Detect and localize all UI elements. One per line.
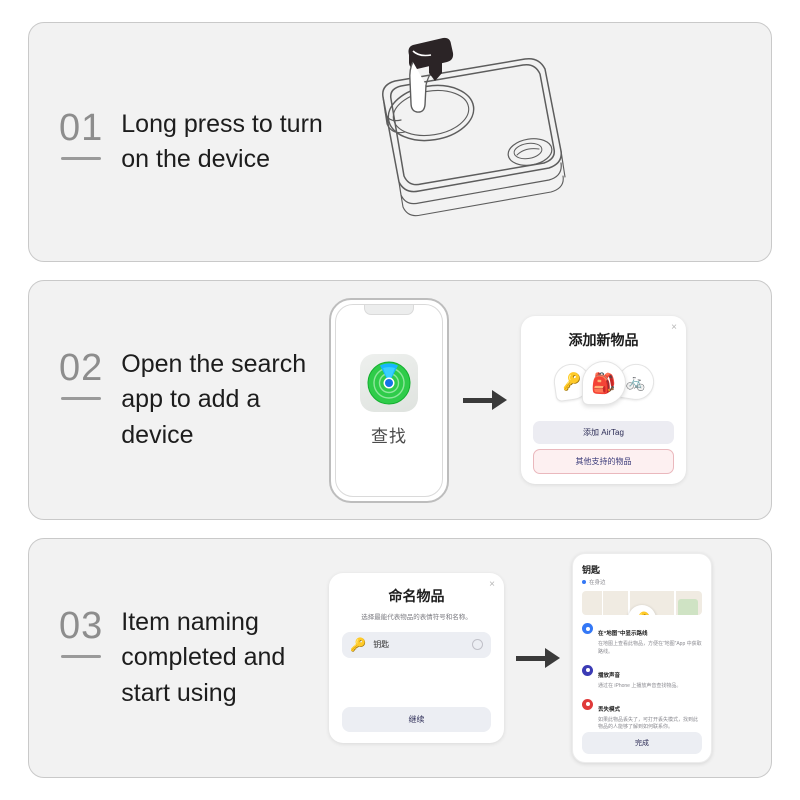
step-03-description: Item naming completed and start using bbox=[121, 605, 329, 712]
add-airtag-button[interactable]: 添加 AirTag bbox=[533, 421, 674, 444]
step-02-number: 02 bbox=[59, 349, 103, 387]
option-desc: 通过在 iPhone 上播放声音查找物品。 bbox=[598, 683, 702, 691]
step-card-02: 02 Open the search app to add a device bbox=[28, 280, 772, 520]
lost-mode-icon bbox=[582, 699, 593, 710]
step-01-text-block: 01 Long press to turn on the device bbox=[29, 107, 329, 178]
backpack-emoji-bubble: 🎒 bbox=[582, 361, 626, 405]
done-button[interactable]: 完成 bbox=[582, 732, 702, 754]
phone-notch bbox=[364, 305, 414, 315]
step-02-artwork: 查找 × 添加新物品 🔑 🎒 🚲 添加 AirTag bbox=[329, 281, 771, 519]
continue-button[interactable]: 继续 bbox=[342, 707, 491, 732]
map-view[interactable]: 🔑 bbox=[582, 591, 702, 615]
step-03-number-group: 03 bbox=[59, 605, 103, 658]
map-card-status-text: 在身边 bbox=[589, 578, 606, 586]
instruction-steps-page: 01 Long press to turn on the device bbox=[0, 0, 800, 800]
step-card-03: 03 Item naming completed and start using… bbox=[28, 538, 772, 778]
find-my-app-label: 查找 bbox=[371, 422, 407, 447]
step-03-text-block: 03 Item naming completed and start using bbox=[29, 605, 329, 712]
clear-icon[interactable] bbox=[472, 639, 483, 650]
item-emoji-cluster: 🔑 🎒 🚲 bbox=[533, 350, 674, 416]
close-icon[interactable]: × bbox=[671, 323, 677, 333]
map-option-lost-mode[interactable]: 丢失模式 如果此物品丢失了，可打开丢失模式，找到此物品的人能够了解到如何联系你。 bbox=[582, 698, 702, 733]
tracker-device-illustration bbox=[347, 29, 607, 234]
map-card-title: 钥匙 bbox=[582, 563, 702, 576]
item-map-card: 钥匙 在身边 🔑 bbox=[572, 553, 712, 763]
phone-mockup: 查找 bbox=[329, 298, 449, 503]
close-icon[interactable]: × bbox=[489, 580, 495, 590]
status-dot-icon bbox=[582, 580, 586, 584]
option-desc: 如果此物品丢失了，可打开丢失模式，找到此物品的人能够了解到如何联系你。 bbox=[598, 717, 702, 733]
step-01-rule bbox=[61, 157, 101, 160]
step-01-artwork bbox=[329, 23, 771, 261]
find-my-app-icon[interactable] bbox=[360, 354, 418, 412]
add-new-item-title: 添加新物品 bbox=[533, 330, 674, 350]
name-item-title: 命名物品 bbox=[342, 586, 491, 606]
step-01-number-group: 01 bbox=[59, 107, 103, 160]
step-02-description: Open the search app to add a device bbox=[121, 347, 329, 454]
play-sound-icon bbox=[582, 665, 593, 676]
step-03-number: 03 bbox=[59, 607, 103, 645]
arrow-right-icon bbox=[516, 645, 560, 671]
add-new-item-dialog: × 添加新物品 🔑 🎒 🚲 添加 AirTag 其他支持的物品 bbox=[521, 316, 686, 484]
arrow-right-icon bbox=[463, 387, 507, 413]
map-pin-icon: 🔑 bbox=[628, 605, 656, 615]
option-desc: 在地图上查看此物品，方便在“地图”App 中获取路线。 bbox=[598, 641, 702, 657]
item-name-input[interactable]: 🔑 钥匙 bbox=[342, 632, 491, 658]
option-heading: 丢失模式 bbox=[598, 707, 620, 713]
phone-screen: 查找 bbox=[335, 304, 443, 497]
map-option-play-sound[interactable]: 播放声音 通过在 iPhone 上播放声音查找物品。 bbox=[582, 664, 702, 691]
step-01-description: Long press to turn on the device bbox=[121, 107, 329, 178]
step-02-number-group: 02 bbox=[59, 347, 103, 400]
key-emoji-icon: 🔑 bbox=[350, 637, 366, 653]
name-item-subtitle: 选择最能代表物品的表情符号和名称。 bbox=[342, 613, 491, 623]
name-item-dialog: × 命名物品 选择最能代表物品的表情符号和名称。 🔑 钥匙 继续 bbox=[329, 573, 504, 743]
map-option-directions[interactable]: 在“地图”中显示路线 在地图上查看此物品，方便在“地图”App 中获取路线。 bbox=[582, 622, 702, 657]
directions-icon bbox=[582, 623, 593, 634]
option-heading: 在“地图”中显示路线 bbox=[598, 631, 648, 637]
item-name-value: 钥匙 bbox=[373, 639, 465, 650]
step-02-text-block: 02 Open the search app to add a device bbox=[29, 347, 329, 454]
step-card-01: 01 Long press to turn on the device bbox=[28, 22, 772, 262]
other-supported-items-button[interactable]: 其他支持的物品 bbox=[533, 449, 674, 474]
map-card-status: 在身边 bbox=[582, 578, 702, 586]
step-01-number: 01 bbox=[59, 109, 103, 147]
step-03-artwork: × 命名物品 选择最能代表物品的表情符号和名称。 🔑 钥匙 继续 bbox=[329, 539, 771, 777]
step-02-rule bbox=[61, 397, 101, 400]
step-03-rule bbox=[61, 655, 101, 658]
option-heading: 播放声音 bbox=[598, 673, 620, 679]
